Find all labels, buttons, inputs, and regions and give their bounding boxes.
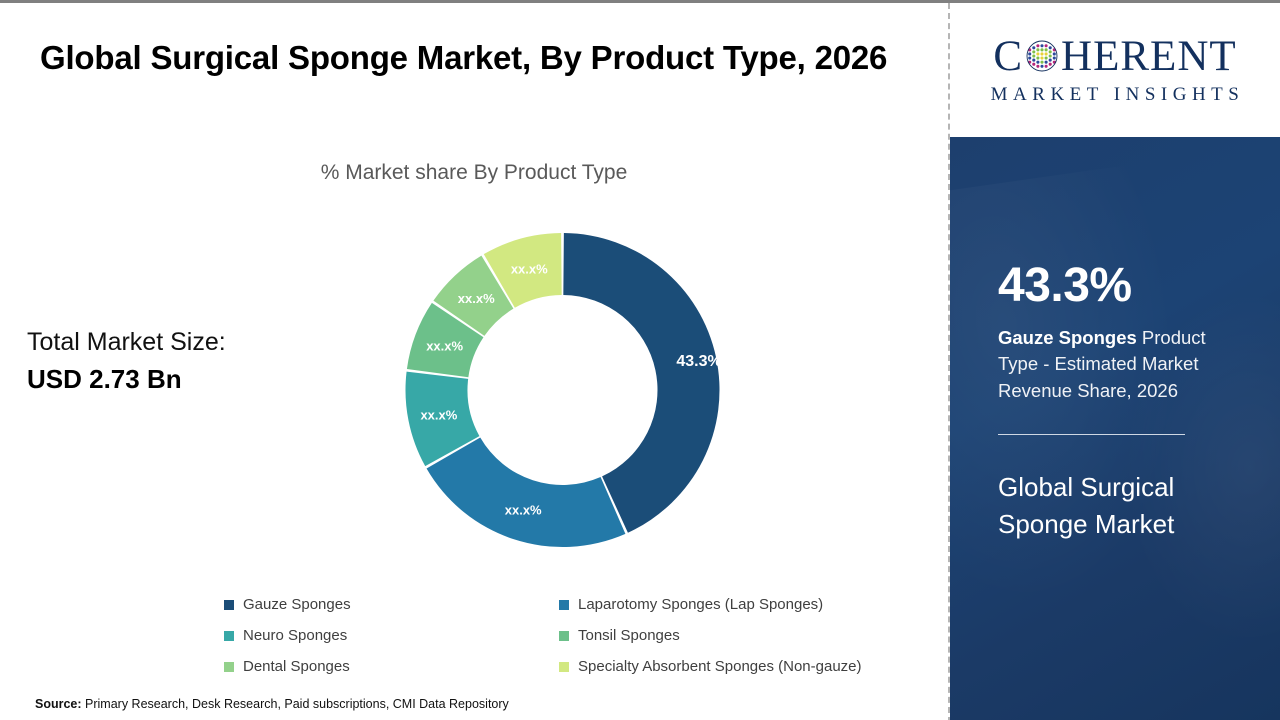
donut-data-label: xx.x% [426, 338, 463, 353]
legend-item-label: Tonsil Sponges [578, 627, 680, 644]
legend-swatch-icon [224, 631, 234, 641]
source-line: Source: Primary Research, Desk Research,… [35, 697, 509, 711]
legend-item-dental-sponges[interactable]: Dental Sponges [224, 658, 559, 675]
legend-item-label: Gauze Sponges [243, 596, 351, 613]
hero-market-name: Global Surgical Sponge Market [998, 469, 1232, 544]
legend-item-tonsil-sponges[interactable]: Tonsil Sponges [559, 627, 924, 644]
legend-swatch-icon [559, 631, 569, 641]
legend-item-gauze-sponges[interactable]: Gauze Sponges [224, 596, 559, 613]
donut-chart-svg: 43.3%xx.x%xx.x%xx.x%xx.x%xx.x% [405, 225, 720, 555]
hero-desc-bold: Gauze Sponges [998, 327, 1137, 348]
chart-panel: Global Surgical Sponge Market, By Produc… [0, 3, 948, 720]
total-market-size-block: Total Market Size: USD 2.73 Bn [27, 325, 327, 397]
donut-data-label: xx.x% [420, 407, 457, 422]
legend-item-neuro-sponges[interactable]: Neuro Sponges [224, 627, 559, 644]
logo-letter-c: C [993, 35, 1023, 78]
hero-content: 43.3% Gauze Sponges Product Type - Estim… [950, 262, 1280, 544]
hero-divider [998, 434, 1185, 435]
donut-data-label: 43.3% [676, 353, 720, 370]
donut-slice-group [406, 233, 720, 547]
legend-swatch-icon [224, 662, 234, 672]
hero-stat-description: Gauze Sponges Product Type - Estimated M… [998, 325, 1232, 404]
legend-item-laparotomy-sponges[interactable]: Laparotomy Sponges (Lap Sponges) [559, 596, 924, 613]
legend-swatch-icon [224, 600, 234, 610]
hero-stat-value: 43.3% [998, 262, 1232, 310]
donut-data-label: xx.x% [511, 261, 548, 276]
donut-slice[interactable] [427, 438, 626, 547]
source-prefix: Source: [35, 697, 82, 711]
total-market-size-value: USD 2.73 Bn [27, 361, 327, 398]
logo-wordmark: C HERENT [993, 35, 1236, 78]
brand-panel: C HERENT MARKET INSIGHTS 43.3% Gauze Spo… [948, 3, 1280, 720]
legend-item-label: Laparotomy Sponges (Lap Sponges) [578, 596, 823, 613]
legend-swatch-icon [559, 662, 569, 672]
page-title: Global Surgical Sponge Market, By Produc… [40, 33, 920, 83]
legend-item-specialty-absorbent-sponges[interactable]: Specialty Absorbent Sponges (Non-gauze) [559, 658, 924, 675]
legend-item-label: Specialty Absorbent Sponges (Non-gauze) [578, 658, 862, 675]
donut-data-label: xx.x% [505, 503, 542, 518]
source-text: Primary Research, Desk Research, Paid su… [82, 697, 509, 711]
logo-tagline: MARKET INSIGHTS [986, 84, 1245, 106]
globe-dots-icon [1024, 38, 1060, 74]
legend-item-label: Dental Sponges [243, 658, 350, 675]
infographic-slide: Global Surgical Sponge Market, By Produc… [0, 0, 1280, 720]
company-logo[interactable]: C HERENT MARKET INSIGHTS [950, 3, 1280, 137]
total-market-size-label: Total Market Size: [27, 325, 327, 361]
chart-legend: Gauze Sponges Laparotomy Sponges (Lap Sp… [224, 589, 924, 682]
donut-chart: 43.3%xx.x%xx.x%xx.x%xx.x%xx.x% [405, 225, 720, 555]
donut-data-label: xx.x% [458, 291, 495, 306]
chart-subtitle: % Market share By Product Type [0, 161, 948, 185]
logo-word-herent: HERENT [1061, 35, 1237, 78]
legend-swatch-icon [559, 600, 569, 610]
legend-item-label: Neuro Sponges [243, 627, 347, 644]
hero-stat-panel: 43.3% Gauze Sponges Product Type - Estim… [950, 137, 1280, 720]
